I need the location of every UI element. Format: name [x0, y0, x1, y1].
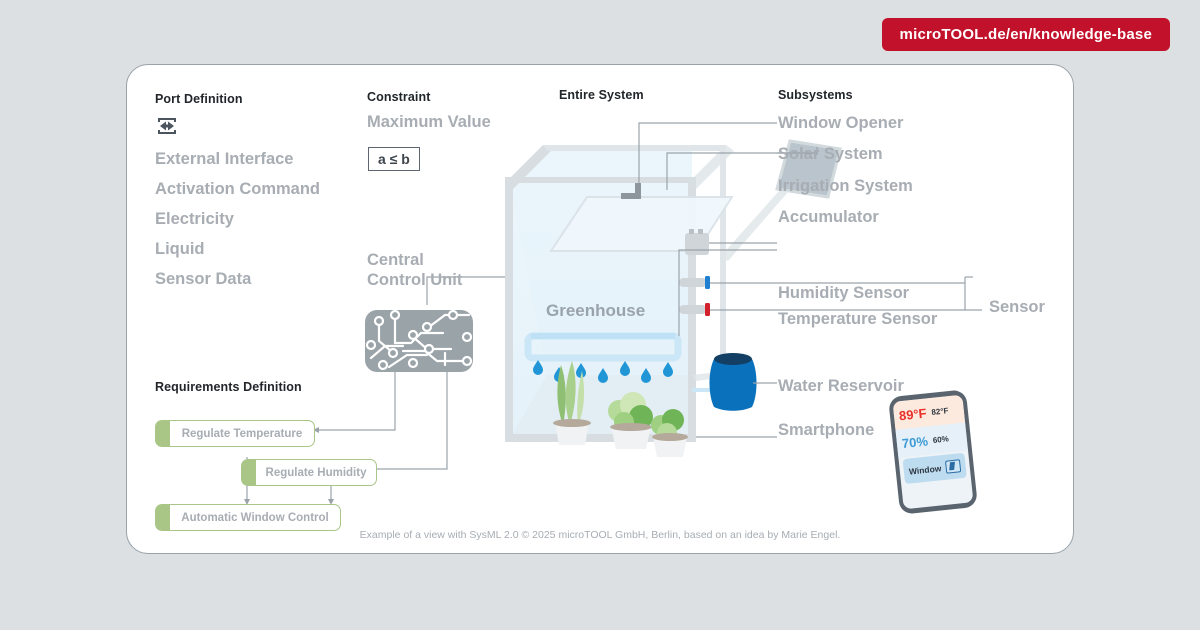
port-definition-header: Port Definition [155, 92, 243, 106]
subsystem-humidity-sensor: Humidity Sensor [778, 285, 909, 302]
subsystem-window-opener: Window Opener [778, 115, 903, 132]
water-reservoir-barrel [692, 353, 757, 411]
temperature-current-value: 89°F [898, 405, 927, 423]
port-interface-icon [154, 115, 180, 142]
diagram-card: Port Definition External Interface Activ… [126, 64, 1074, 554]
plants [553, 361, 688, 457]
port-item-external-interface: External Interface [155, 151, 293, 168]
humidity-current-value: 70% [901, 433, 928, 451]
accumulator-icon [685, 229, 709, 255]
port-item-liquid: Liquid [155, 241, 204, 258]
constraint-expression-box: a ≤ b [368, 147, 420, 171]
requirement-regulate-humidity[interactable]: Regulate Humidity [241, 459, 377, 486]
subsystem-temperature-sensor: Temperature Sensor [778, 311, 937, 328]
subsystem-smartphone: Smartphone [778, 422, 874, 439]
requirement-accent-tab [242, 460, 256, 485]
knowledge-base-badge[interactable]: microTOOL.de/en/knowledge-base [882, 18, 1170, 51]
humidity-target-value: 60% [932, 434, 949, 445]
greenhouse-label: Greenhouse [546, 302, 645, 319]
requirement-label: Automatic Window Control [170, 512, 340, 524]
requirement-label: Regulate Temperature [170, 428, 314, 440]
central-control-unit-label-line1: Central [367, 252, 424, 269]
requirement-label: Regulate Humidity [256, 467, 376, 479]
window-tilt-icon [945, 459, 961, 473]
port-item-sensor-data: Sensor Data [155, 271, 251, 288]
central-control-unit-chip [365, 310, 473, 372]
subsystem-water-reservoir: Water Reservoir [778, 378, 904, 395]
humidity-sensor-icon [679, 276, 710, 289]
footer-credit: Example of a view with SysML 2.0 © 2025 … [127, 529, 1073, 541]
humidity-row: 70% 60% [895, 422, 968, 457]
irrigation-pipe [528, 336, 678, 358]
temperature-sensor-icon [679, 303, 710, 316]
sensor-group-label: Sensor [989, 299, 1045, 316]
constraint-title: Maximum Value [367, 114, 491, 131]
water-drops [533, 360, 673, 383]
temperature-target-value: 82°F [931, 406, 949, 417]
requirement-regulate-temperature[interactable]: Regulate Temperature [155, 420, 315, 447]
requirement-accent-tab [156, 505, 170, 530]
subsystem-solar-system: Solar System [778, 146, 883, 163]
constraint-header: Constraint [367, 90, 431, 104]
port-item-activation-command: Activation Command [155, 181, 320, 198]
constraint-expression: a ≤ b [378, 151, 410, 167]
port-item-electricity: Electricity [155, 211, 234, 228]
subsystem-accumulator: Accumulator [778, 209, 879, 226]
requirement-automatic-window-control[interactable]: Automatic Window Control [155, 504, 341, 531]
window-control-label: Window [908, 463, 941, 476]
smartphone-screen: 89°F 82°F 70% 60% Window [893, 395, 974, 510]
window-opener-icon [621, 183, 641, 199]
subsystems-header: Subsystems [778, 88, 853, 102]
entire-system-header: Entire System [559, 88, 644, 102]
subsystem-irrigation-system: Irrigation System [778, 178, 913, 195]
smartphone-mockup[interactable]: 89°F 82°F 70% 60% Window [888, 389, 978, 515]
central-control-unit-label-line2: Control Unit [367, 272, 462, 289]
requirement-accent-tab [156, 421, 170, 446]
window-control-row[interactable]: Window [903, 453, 967, 484]
requirements-definition-header: Requirements Definition [155, 380, 302, 394]
